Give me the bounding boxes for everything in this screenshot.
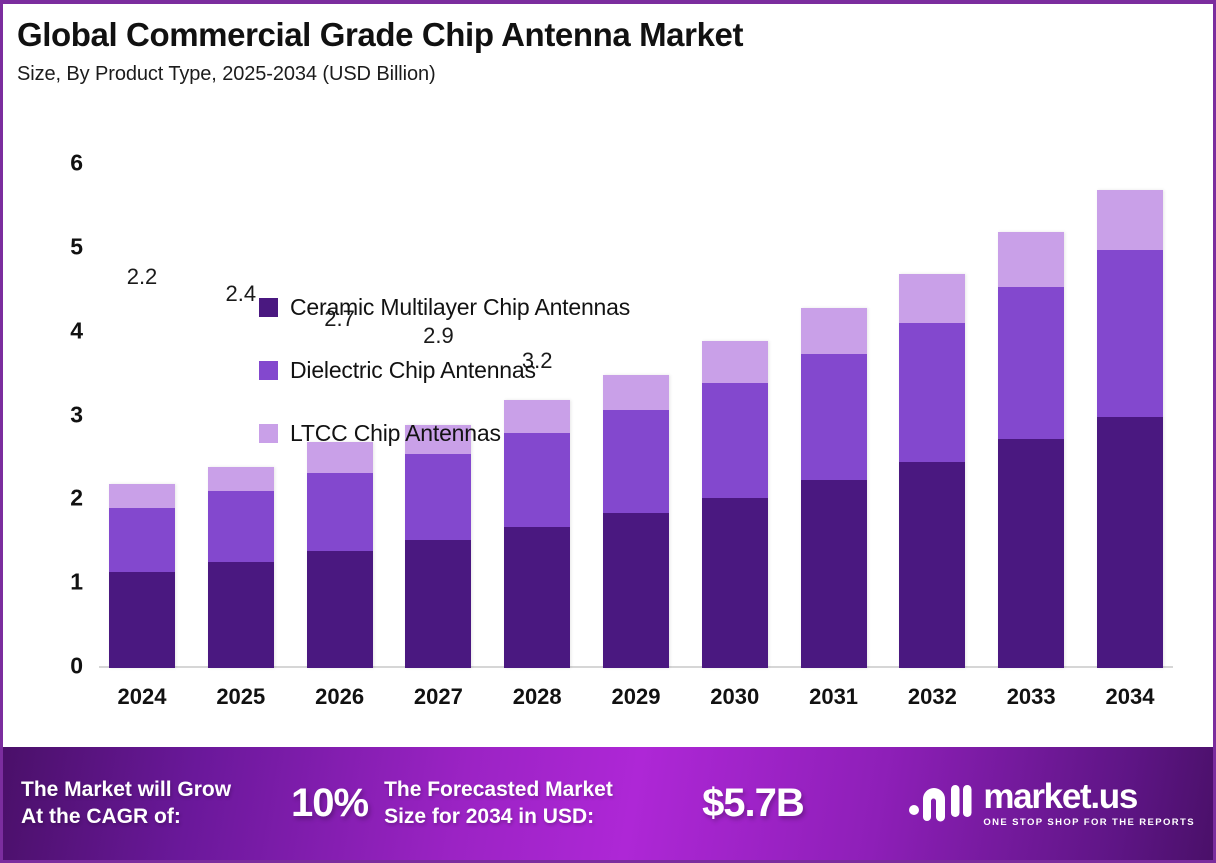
stacked-bar[interactable] xyxy=(109,484,175,668)
y-axis-tick: 5 xyxy=(43,234,83,261)
bar-group[interactable]: 4.3 xyxy=(791,114,877,668)
logo-tagline: ONE STOP SHOP FOR THE REPORTS xyxy=(983,817,1195,828)
bar-segment[interactable] xyxy=(998,287,1064,440)
legend-swatch-icon xyxy=(259,424,278,443)
bar-segment[interactable] xyxy=(801,480,867,668)
bar-segment[interactable] xyxy=(899,274,965,323)
bar-segment[interactable] xyxy=(1097,190,1163,249)
x-axis-label: 2029 xyxy=(593,684,679,710)
chart-header: Global Commercial Grade Chip Antenna Mar… xyxy=(17,16,1203,86)
bar-segment[interactable] xyxy=(1097,417,1163,668)
legend-item[interactable]: LTCC Chip Antennas xyxy=(259,402,630,465)
bar-group[interactable]: 2.2 xyxy=(99,114,185,668)
x-axis-label: 2028 xyxy=(494,684,580,710)
cagr-caption: The Market will Grow At the CAGR of: xyxy=(21,777,291,831)
stacked-bar[interactable] xyxy=(899,274,965,668)
forecast-size-value: $5.7B xyxy=(702,781,804,826)
y-axis-tick: 2 xyxy=(43,485,83,512)
bar-segment[interactable] xyxy=(208,562,274,668)
bar-segment[interactable] xyxy=(899,462,965,668)
y-axis-tick: 1 xyxy=(43,569,83,596)
stacked-bar[interactable] xyxy=(702,341,768,668)
page-title: Global Commercial Grade Chip Antenna Mar… xyxy=(17,16,1203,54)
stacked-bar[interactable] xyxy=(1097,190,1163,668)
x-axis-label: 2024 xyxy=(99,684,185,710)
x-axis-label: 2034 xyxy=(1087,684,1173,710)
y-axis-tick: 0 xyxy=(43,653,83,680)
stacked-bar[interactable] xyxy=(307,442,373,668)
forecast-caption-line1: The Forecasted Market xyxy=(384,777,684,804)
y-axis-tick: 4 xyxy=(43,317,83,344)
y-axis-tick: 6 xyxy=(43,150,83,177)
market-us-logo-wordmark: market.us ONE STOP SHOP FOR THE REPORTS xyxy=(983,779,1195,828)
y-axis: 0123456 xyxy=(23,114,83,734)
legend-swatch-icon xyxy=(259,361,278,380)
legend-label: LTCC Chip Antennas xyxy=(290,420,501,447)
bar-segment[interactable] xyxy=(109,508,175,573)
bar-group[interactable]: 5.2 xyxy=(988,114,1074,668)
footer-banner: The Market will Grow At the CAGR of: 10%… xyxy=(3,747,1213,860)
bar-group[interactable]: 5.7 xyxy=(1087,114,1173,668)
bar-group[interactable]: 4.7 xyxy=(889,114,975,668)
cagr-value: 10% xyxy=(291,781,368,826)
bar-value-label: 2.4 xyxy=(226,281,257,307)
chart-legend: Ceramic Multilayer Chip AntennasDielectr… xyxy=(259,276,630,465)
legend-swatch-icon xyxy=(259,298,278,317)
bar-segment[interactable] xyxy=(801,308,867,354)
bar-segment[interactable] xyxy=(899,323,965,462)
bar-group[interactable]: 3.9 xyxy=(692,114,778,668)
legend-item[interactable]: Dielectric Chip Antennas xyxy=(259,339,630,402)
x-axis-label: 2030 xyxy=(692,684,778,710)
forecast-size-caption: The Forecasted Market Size for 2034 in U… xyxy=(384,777,684,831)
stacked-bar[interactable] xyxy=(208,467,274,668)
bar-segment[interactable] xyxy=(405,454,471,539)
x-axis-label: 2031 xyxy=(791,684,877,710)
logo-name: market.us xyxy=(983,779,1137,814)
bar-segment[interactable] xyxy=(702,341,768,383)
cagr-caption-line2: At the CAGR of: xyxy=(21,804,291,831)
bar-segment[interactable] xyxy=(109,572,175,668)
bar-segment[interactable] xyxy=(208,467,274,491)
bar-segment[interactable] xyxy=(504,527,570,668)
bar-segment[interactable] xyxy=(603,513,669,668)
x-axis-label: 2026 xyxy=(297,684,383,710)
cagr-caption-line1: The Market will Grow xyxy=(21,777,291,804)
bar-segment[interactable] xyxy=(801,354,867,481)
bar-segment[interactable] xyxy=(405,540,471,668)
x-axis-label: 2033 xyxy=(988,684,1074,710)
x-axis-label: 2027 xyxy=(395,684,481,710)
x-axis-label: 2025 xyxy=(198,684,284,710)
bar-segment[interactable] xyxy=(208,491,274,561)
legend-label: Dielectric Chip Antennas xyxy=(290,357,536,384)
bar-segment[interactable] xyxy=(307,551,373,668)
bar-segment[interactable] xyxy=(1097,250,1163,417)
x-axis-labels: 2024202520262027202820292030203120322033… xyxy=(99,684,1173,710)
bar-segment[interactable] xyxy=(702,383,768,498)
legend-label: Ceramic Multilayer Chip Antennas xyxy=(290,294,630,321)
bar-value-label: 2.2 xyxy=(127,264,158,290)
y-axis-tick: 3 xyxy=(43,401,83,428)
market-us-logo-icon xyxy=(907,777,973,830)
stacked-bar[interactable] xyxy=(801,308,867,668)
chart-canvas: Global Commercial Grade Chip Antenna Mar… xyxy=(0,0,1216,863)
bar-segment[interactable] xyxy=(998,232,1064,286)
plot-area: 0123456 2.22.42.72.93.23.53.94.34.75.25.… xyxy=(3,114,1213,734)
stacked-bar[interactable] xyxy=(998,232,1064,668)
bar-segment[interactable] xyxy=(998,439,1064,668)
x-axis-label: 2032 xyxy=(889,684,975,710)
bar-segment[interactable] xyxy=(702,498,768,668)
legend-item[interactable]: Ceramic Multilayer Chip Antennas xyxy=(259,276,630,339)
bar-segment[interactable] xyxy=(307,473,373,551)
bar-segment[interactable] xyxy=(109,484,175,508)
market-us-logo[interactable]: market.us ONE STOP SHOP FOR THE REPORTS xyxy=(907,777,1195,830)
forecast-caption-line2: Size for 2034 in USD: xyxy=(384,804,684,831)
chart-subtitle: Size, By Product Type, 2025-2034 (USD Bi… xyxy=(17,63,1203,86)
